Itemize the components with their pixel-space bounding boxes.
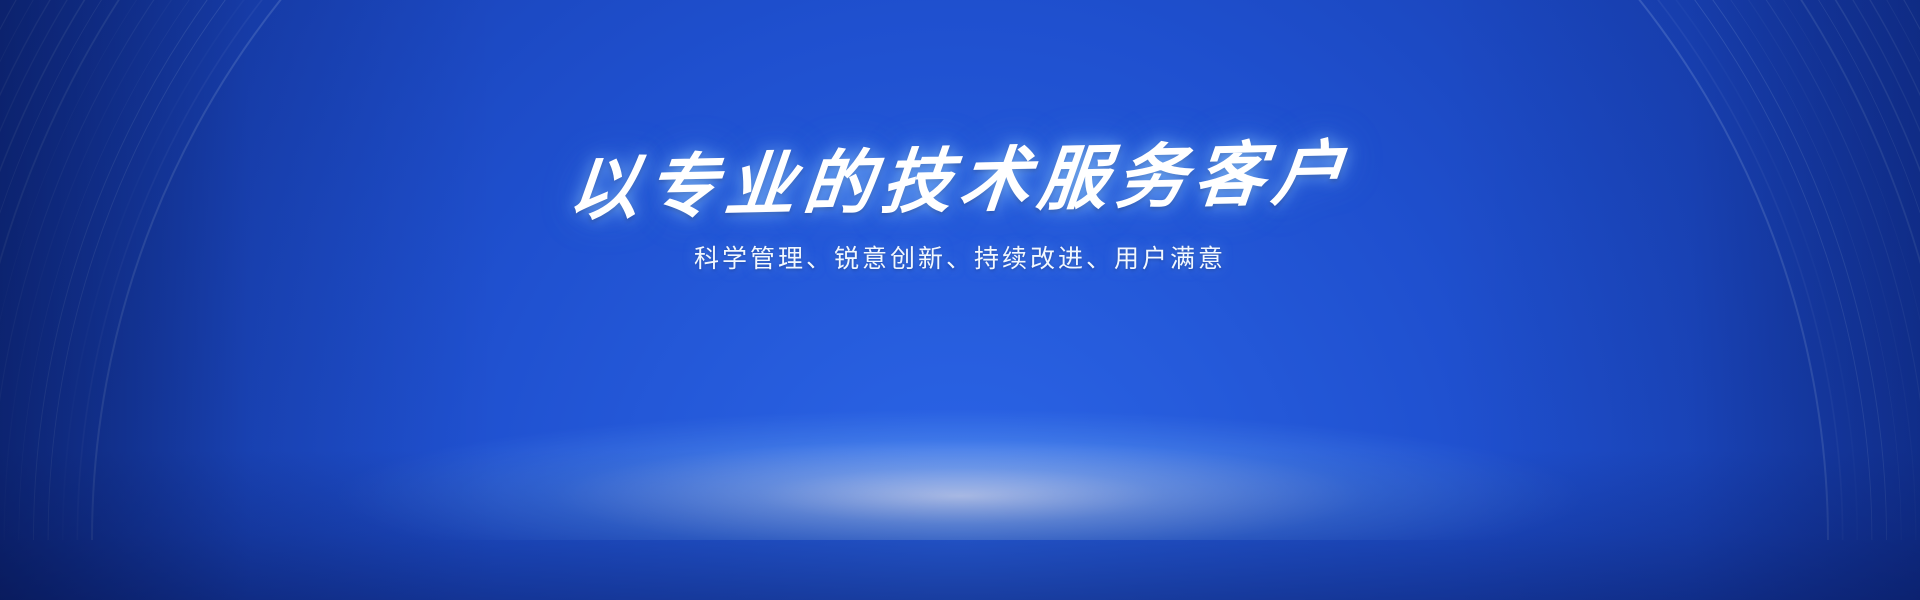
city-lights-grid-icon — [0, 0, 1920, 600]
earth-globe — [0, 0, 1920, 600]
banner-text-block: 以专业的技术服务客户 科学管理、锐意创新、持续改进、用户满意 — [0, 146, 1920, 274]
banner-subtitle: 科学管理、锐意创新、持续改进、用户满意 — [0, 244, 1920, 274]
hero-banner: 以专业的技术服务客户 科学管理、锐意创新、持续改进、用户满意 — [0, 0, 1920, 600]
